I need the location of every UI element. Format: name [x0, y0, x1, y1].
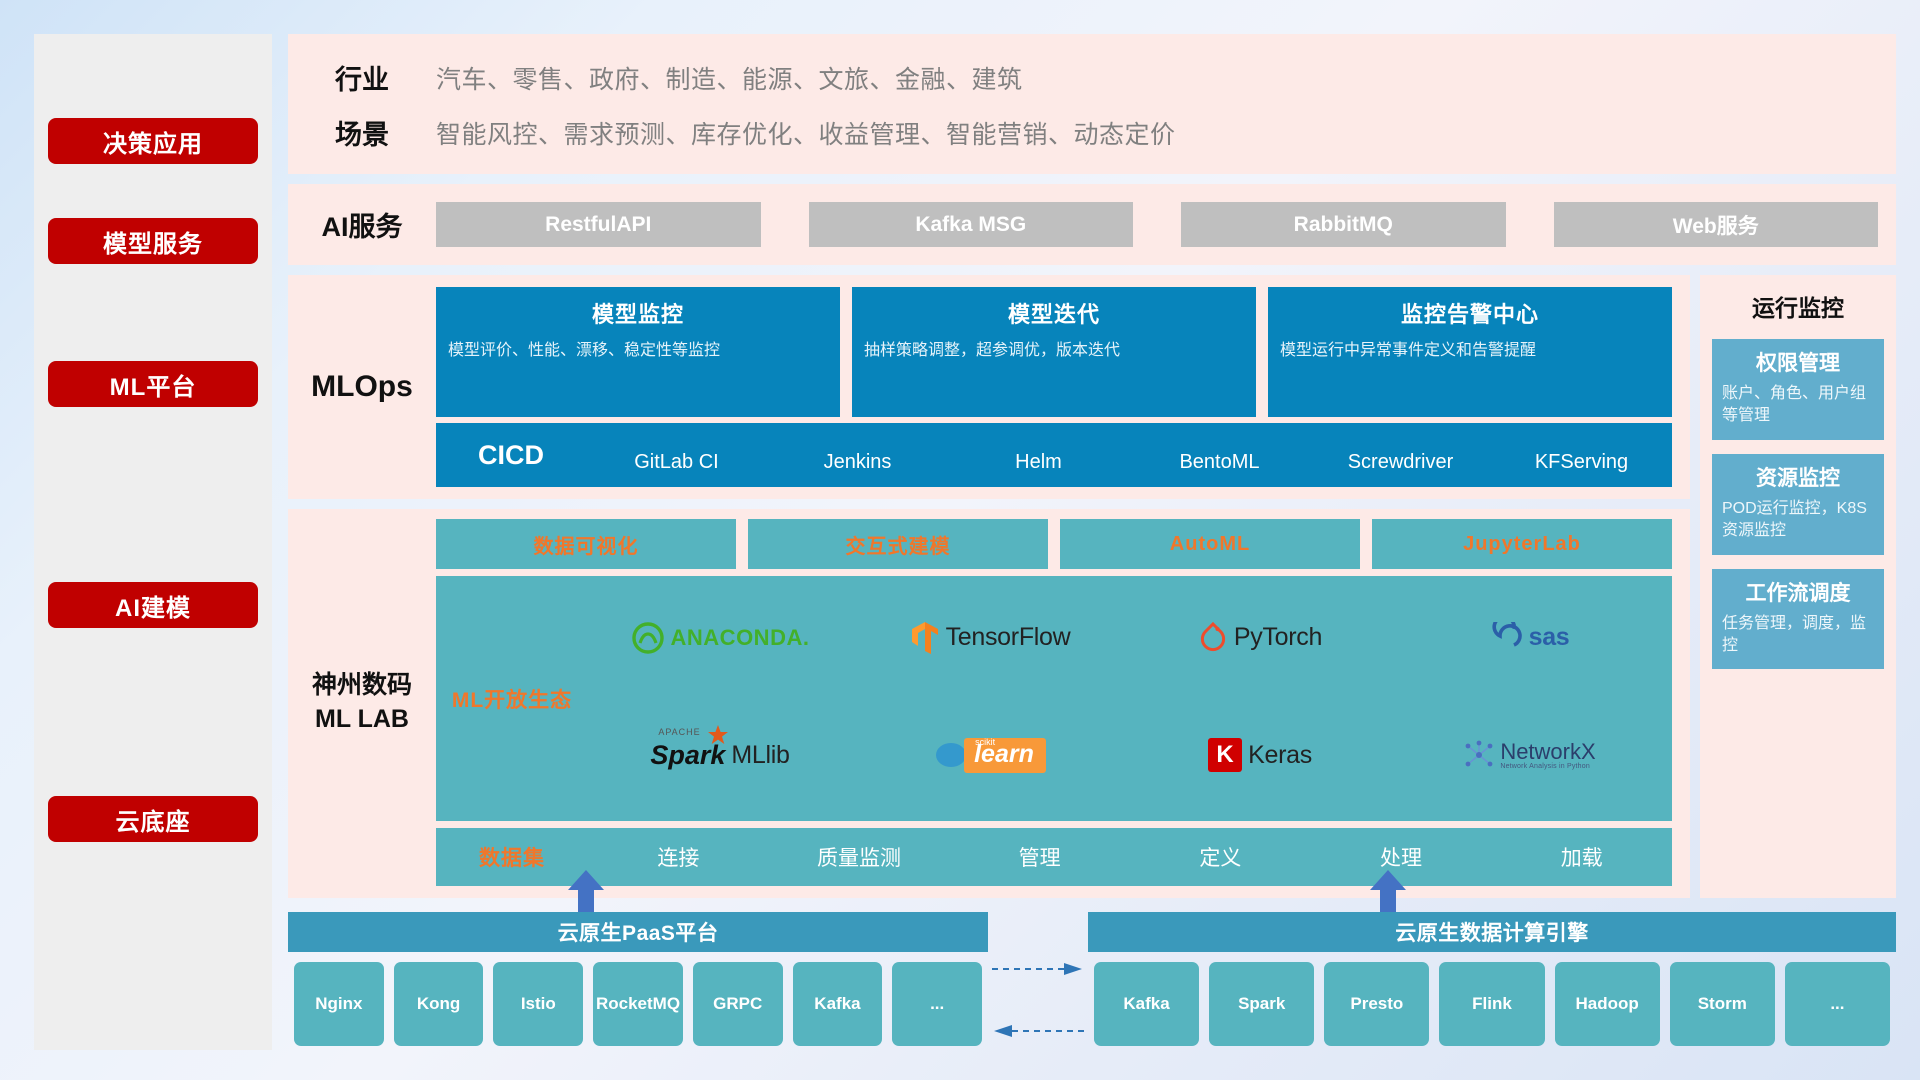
monitoring-title: 运行监控 — [1712, 289, 1884, 323]
scikit-label: scikit — [975, 737, 995, 747]
ai-service-chip[interactable]: Web服务 — [1554, 202, 1879, 247]
sas-logo: sas — [1491, 622, 1570, 654]
compute-chip[interactable]: Flink — [1439, 962, 1544, 1046]
compute-chip[interactable]: Spark — [1209, 962, 1314, 1046]
tensorflow-mark — [910, 620, 940, 656]
mlops-card[interactable]: 监控告警中心 模型运行中异常事件定义和告警提醒 — [1268, 287, 1672, 417]
ml-lab-tool[interactable]: 交互式建模 — [748, 519, 1048, 569]
rail-label: ML平台 — [110, 367, 197, 402]
ml-lab-key: 神州数码 ML LAB — [288, 519, 436, 886]
rail-label: AI建模 — [115, 588, 191, 623]
monitoring-card-desc: POD运行监控，K8S资源监控 — [1722, 498, 1874, 543]
cicd-item[interactable]: Helm — [948, 451, 1129, 473]
rail-item-ml-platform[interactable]: ML平台 — [48, 361, 258, 407]
mlops-card-desc: 抽样策略调整，超参调优，版本迭代 — [864, 339, 1244, 362]
mlops-cards: 模型监控 模型评价、性能、漂移、稳定性等监控 模型迭代 抽样策略调整，超参调优，… — [436, 287, 1672, 417]
networkx-tagline: Network Analysis in Python — [1500, 763, 1595, 770]
band-divider — [288, 265, 1896, 275]
cloud-link-arrows — [988, 912, 1088, 1050]
paas-chip[interactable]: Nginx — [294, 962, 384, 1046]
compute-chip[interactable]: Kafka — [1094, 962, 1199, 1046]
cicd-item[interactable]: KFServing — [1491, 451, 1672, 473]
monitoring-card-desc: 账户、角色、用户组等管理 — [1722, 383, 1874, 428]
mllib-label: MLlib — [731, 741, 789, 770]
paas-chip[interactable]: GRPC — [693, 962, 783, 1046]
mlops-key: MLOps — [288, 287, 436, 487]
pytorch-mark — [1198, 621, 1228, 655]
mlops-card-title: 监控告警中心 — [1280, 297, 1660, 329]
scenario-row: 场景 智能风控、需求预测、库存优化、收益管理、智能营销、动态定价 — [288, 113, 1896, 152]
tensorflow-label: TensorFlow — [946, 623, 1071, 652]
model-service-band: AI服务 RestfulAPI Kafka MSG RabbitMQ Web服务 — [288, 184, 1896, 265]
arrow-left-dashed-icon — [992, 1024, 1084, 1038]
data-compute-engine-block: 云原生数据计算引擎 Kafka Spark Presto Flink Hadoo… — [1088, 912, 1896, 1050]
cicd-item[interactable]: BentoML — [1129, 451, 1310, 473]
monitoring-card-title: 工作流调度 — [1722, 577, 1874, 607]
scikit-learn-logo: scikit learn — [934, 738, 1046, 773]
rail-label: 决策应用 — [103, 124, 203, 159]
compute-chip[interactable]: Storm — [1670, 962, 1775, 1046]
industry-key: 行业 — [288, 58, 436, 97]
spark-mllib-logo: APACHE Spark MLlib — [650, 740, 789, 771]
mlops-card[interactable]: 模型监控 模型评价、性能、漂移、稳定性等监控 — [436, 287, 840, 417]
up-arrow-icon — [564, 868, 608, 912]
ml-lab-body: 数据可视化 交互式建模 AutoML JupyterLab ML开放生态 — [436, 519, 1690, 886]
arrow-right-dashed-icon — [992, 962, 1084, 976]
networkx-label: NetworkX — [1500, 741, 1595, 763]
industry-values: 汽车、零售、政府、制造、能源、文旅、金融、建筑 — [436, 60, 1023, 96]
paas-chips: Nginx Kong Istio RocketMQ GRPC Kafka ... — [288, 952, 988, 1050]
mlops-card-desc: 模型运行中异常事件定义和告警提醒 — [1280, 339, 1660, 362]
anaconda-label: ANACONDA. — [671, 625, 810, 651]
mlops-body: 模型监控 模型评价、性能、漂移、稳定性等监控 模型迭代 抽样策略调整，超参调优，… — [436, 287, 1690, 487]
eco-logos: ANACONDA. TensorFlow — [588, 576, 1672, 821]
monitoring-card-resource[interactable]: 资源监控 POD运行监控，K8S资源监控 — [1712, 454, 1884, 555]
spark-star-icon — [707, 724, 729, 746]
rail-item-ai-modeling[interactable]: AI建模 — [48, 582, 258, 628]
monitoring-card-title: 权限管理 — [1722, 347, 1874, 377]
apache-label: APACHE — [658, 727, 700, 737]
platform-left: MLOps 模型监控 模型评价、性能、漂移、稳定性等监控 模型迭代 抽样策略调整… — [288, 275, 1690, 898]
compute-chip[interactable]: ... — [1785, 962, 1890, 1046]
mlops-card-title: 模型迭代 — [864, 297, 1244, 329]
mlops-band: MLOps 模型监控 模型评价、性能、漂移、稳定性等监控 模型迭代 抽样策略调整… — [288, 275, 1690, 499]
layers-stack: 行业 汽车、零售、政府、制造、能源、文旅、金融、建筑 场景 智能风控、需求预测、… — [288, 34, 1896, 1050]
networkx-mark — [1464, 740, 1494, 770]
rail-item-cloud-base[interactable]: 云底座 — [48, 796, 258, 842]
rail-item-model-service[interactable]: 模型服务 — [48, 218, 258, 264]
paas-chip[interactable]: ... — [892, 962, 982, 1046]
monitoring-card-workflow[interactable]: 工作流调度 任务管理，调度，监控 — [1712, 569, 1884, 670]
cicd-bar: CICD GitLab CI Jenkins Helm BentoML Scre… — [436, 423, 1672, 487]
keras-mark-letter: K — [1216, 741, 1233, 769]
mlops-card[interactable]: 模型迭代 抽样策略调整，超参调优，版本迭代 — [852, 287, 1256, 417]
paas-chip[interactable]: Kafka — [793, 962, 883, 1046]
cicd-item[interactable]: Screwdriver — [1310, 451, 1491, 473]
dataset-items: 连接 质量监测 管理 定义 处理 加载 — [588, 842, 1672, 872]
monitoring-card-title: 资源监控 — [1722, 462, 1874, 492]
mlops-card-title: 模型监控 — [448, 297, 828, 329]
scenario-key: 场景 — [288, 113, 436, 152]
paas-chip[interactable]: RocketMQ — [593, 962, 683, 1046]
compute-chip[interactable]: Hadoop — [1555, 962, 1660, 1046]
decision-app-band: 行业 汽车、零售、政府、制造、能源、文旅、金融、建筑 场景 智能风控、需求预测、… — [288, 34, 1896, 174]
ai-service-chip[interactable]: Kafka MSG — [809, 202, 1134, 247]
ml-lab-band: 神州数码 ML LAB 数据可视化 交互式建模 AutoML JupyterLa… — [288, 509, 1690, 898]
ml-lab-tool[interactable]: JupyterLab — [1372, 519, 1672, 569]
pytorch-logo: PyTorch — [1198, 621, 1322, 655]
runtime-monitoring-sidebar: 运行监控 权限管理 账户、角色、用户组等管理 资源监控 POD运行监控，K8S资… — [1700, 275, 1896, 898]
keras-logo: K Keras — [1208, 738, 1312, 772]
cicd-item[interactable]: Jenkins — [767, 451, 948, 473]
paas-chip[interactable]: Kong — [394, 962, 484, 1046]
dataset-item[interactable]: 定义 — [1130, 842, 1311, 872]
compute-title: 云原生数据计算引擎 — [1088, 912, 1896, 952]
ml-lab-key-line1: 神州数码 — [312, 671, 412, 699]
sas-mark — [1491, 622, 1523, 654]
layer-rail: 决策应用 模型服务 ML平台 AI建模 云底座 — [34, 34, 272, 1050]
up-arrow-icon — [1366, 868, 1410, 912]
monitoring-card-permission[interactable]: 权限管理 账户、角色、用户组等管理 — [1712, 339, 1884, 440]
ml-lab-key-line2: ML LAB — [315, 705, 409, 733]
ml-open-ecosystem: ML开放生态 ANACONDA. — [436, 576, 1672, 821]
dataset-bar: 数据集 连接 质量监测 管理 定义 处理 加载 — [436, 828, 1672, 886]
networkx-logo: NetworkX Network Analysis in Python — [1464, 740, 1595, 770]
rail-label: 云底座 — [116, 802, 191, 837]
ai-service-chip[interactable]: RabbitMQ — [1181, 202, 1506, 247]
platform-region: MLOps 模型监控 模型评价、性能、漂移、稳定性等监控 模型迭代 抽样策略调整… — [288, 275, 1896, 898]
pytorch-label: PyTorch — [1234, 623, 1322, 652]
sas-label: sas — [1529, 623, 1570, 652]
paas-platform-block: 云原生PaaS平台 Nginx Kong Istio RocketMQ GRPC… — [288, 912, 988, 1050]
dataset-item[interactable]: 加载 — [1491, 842, 1672, 872]
cloud-base-region: 云原生PaaS平台 Nginx Kong Istio RocketMQ GRPC… — [288, 912, 1896, 1050]
paas-title: 云原生PaaS平台 — [288, 912, 988, 952]
scenario-values: 智能风控、需求预测、库存优化、收益管理、智能营销、动态定价 — [436, 115, 1176, 151]
ml-lab-tool[interactable]: AutoML — [1060, 519, 1360, 569]
dataset-item[interactable]: 质量监测 — [769, 842, 950, 872]
paas-chip[interactable]: Istio — [493, 962, 583, 1046]
cicd-items: GitLab CI Jenkins Helm BentoML Screwdriv… — [586, 437, 1672, 473]
ai-service-chip[interactable]: RestfulAPI — [436, 202, 761, 247]
keras-mark: K — [1208, 738, 1242, 772]
dataset-item[interactable]: 管理 — [949, 842, 1130, 872]
compute-chip[interactable]: Presto — [1324, 962, 1429, 1046]
ai-service-key: AI服务 — [288, 205, 436, 244]
dataset-item[interactable]: 连接 — [588, 842, 769, 872]
keras-label: Keras — [1248, 741, 1312, 770]
architecture-diagram: 决策应用 模型服务 ML平台 AI建模 云底座 行业 汽车、零售、政府、制造、能… — [0, 0, 1920, 1080]
industry-row: 行业 汽车、零售、政府、制造、能源、文旅、金融、建筑 — [288, 58, 1896, 97]
cicd-item[interactable]: GitLab CI — [586, 451, 767, 473]
ml-lab-tool[interactable]: 数据可视化 — [436, 519, 736, 569]
rail-item-decision-app[interactable]: 决策应用 — [48, 118, 258, 164]
band-divider — [288, 174, 1896, 184]
mlops-card-desc: 模型评价、性能、漂移、稳定性等监控 — [448, 339, 828, 362]
rail-label: 模型服务 — [103, 224, 203, 259]
cicd-label: CICD — [436, 440, 586, 471]
ai-service-chips: RestfulAPI Kafka MSG RabbitMQ Web服务 — [436, 202, 1896, 247]
eco-label: ML开放生态 — [436, 576, 588, 821]
anaconda-mark — [631, 621, 665, 655]
compute-chips: Kafka Spark Presto Flink Hadoop Storm ..… — [1088, 952, 1896, 1050]
band-divider — [288, 499, 1690, 509]
monitoring-card-desc: 任务管理，调度，监控 — [1722, 613, 1874, 658]
anaconda-logo: ANACONDA. — [631, 621, 810, 655]
tensorflow-logo: TensorFlow — [910, 620, 1071, 656]
ml-lab-tools: 数据可视化 交互式建模 AutoML JupyterLab — [436, 519, 1672, 569]
